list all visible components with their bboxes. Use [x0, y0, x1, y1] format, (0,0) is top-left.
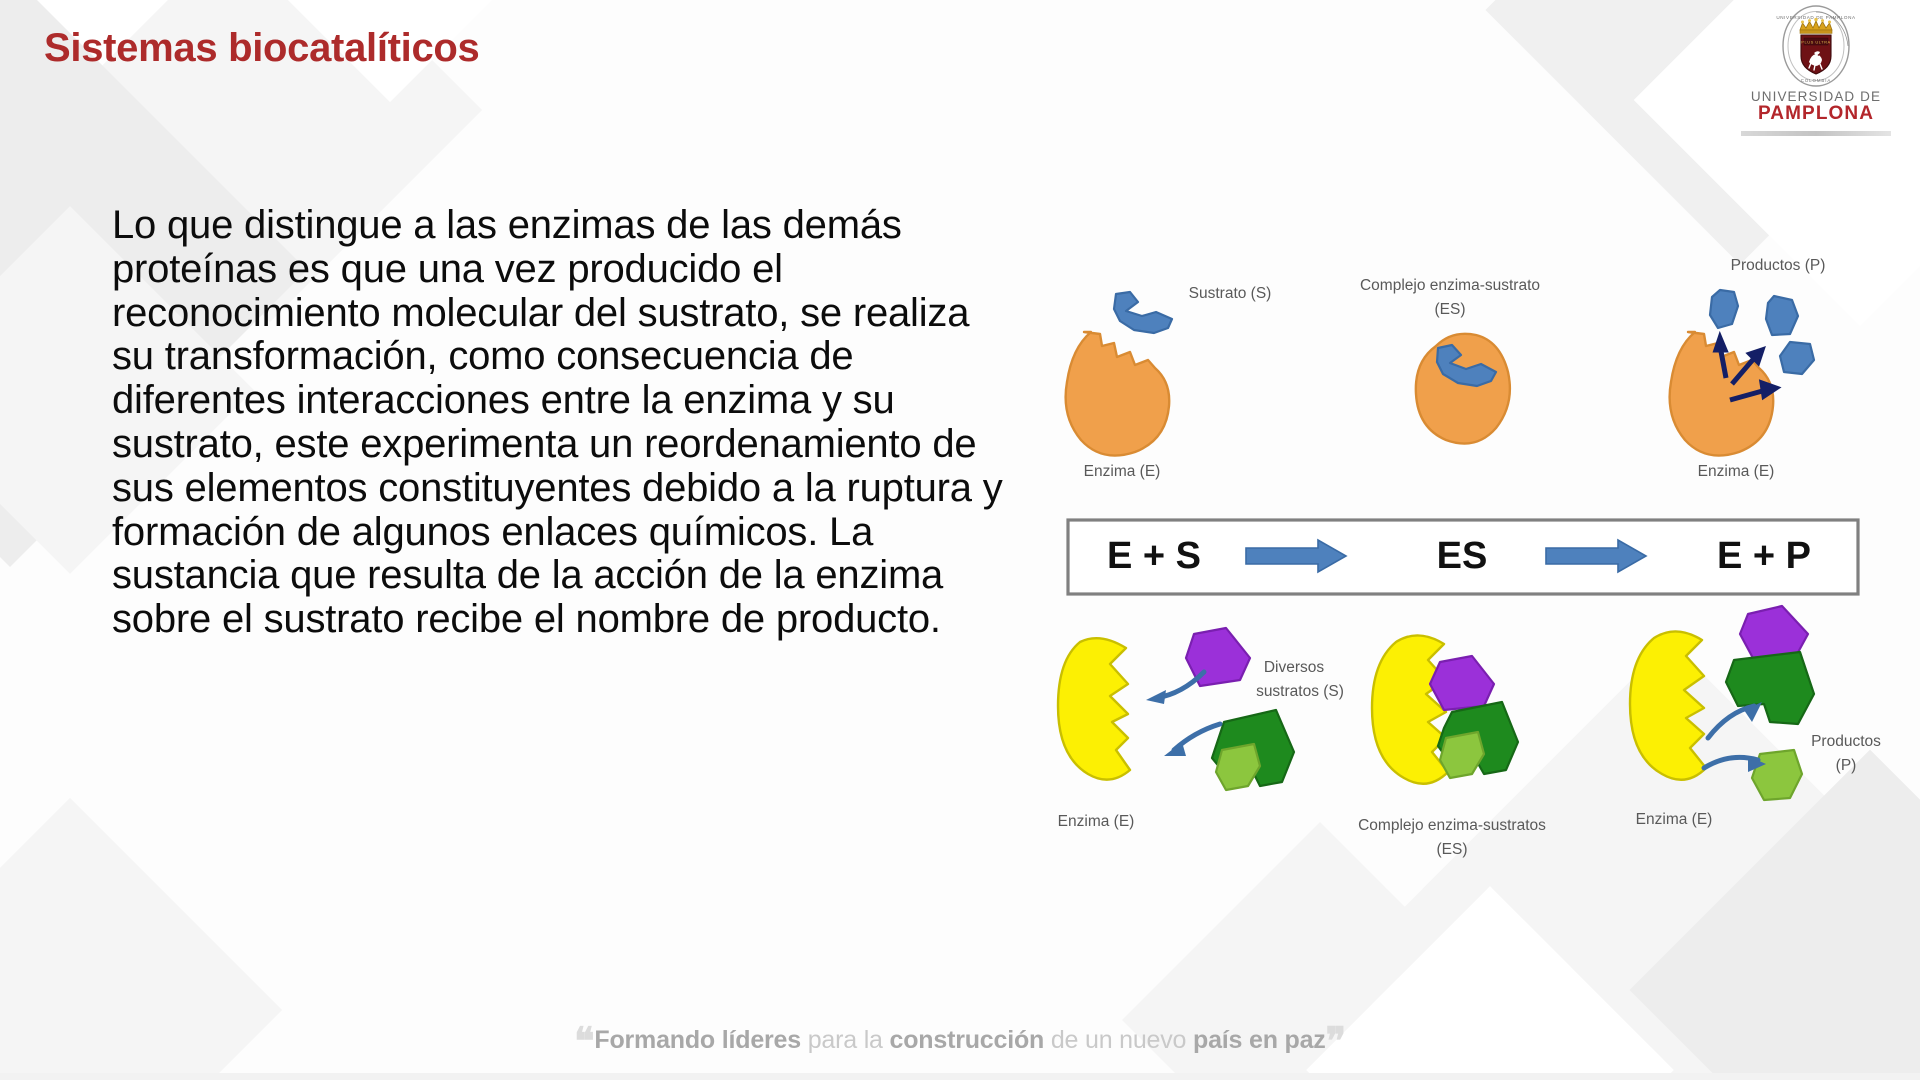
- bottom-panel-complex: Complejo enzima-sustratos (ES): [1358, 635, 1546, 858]
- crest-icon: UNIVERSIDAD DE PAMPLONA COLOMBIA PLUS UL…: [1730, 4, 1902, 88]
- logo-line-universidad: UNIVERSIDAD DE: [1730, 89, 1902, 104]
- top-panel-separate: Enzima (E) Sustrato (S): [1066, 285, 1272, 480]
- footer-seg-5: país en paz: [1193, 1026, 1326, 1054]
- svg-text:(P): (P): [1836, 757, 1857, 774]
- enzyme-mechanism-diagram: Enzima (E) Sustrato (S) Complejo enzima-…: [1018, 238, 1908, 878]
- close-quote-icon: ❞: [1326, 1021, 1346, 1063]
- svg-text:Sustrato (S): Sustrato (S): [1189, 285, 1272, 302]
- svg-text:E + S: E + S: [1107, 535, 1201, 577]
- top-panel-products: Enzima (E) Productos (P): [1670, 257, 1826, 480]
- svg-text:Productos (P): Productos (P): [1731, 257, 1826, 274]
- svg-text:Complejo enzima-sustrato: Complejo enzima-sustrato: [1360, 277, 1540, 294]
- logo-underline: [1741, 131, 1891, 136]
- footer-divider: [0, 1073, 1920, 1080]
- svg-text:Enzima (E): Enzima (E): [1058, 813, 1135, 830]
- footer-seg-2: para la: [801, 1026, 890, 1054]
- page-title: Sistemas biocatalíticos: [44, 26, 480, 71]
- svg-text:E + P: E + P: [1717, 535, 1811, 577]
- footer-seg-3: construcción: [890, 1026, 1045, 1054]
- svg-text:(ES): (ES): [1437, 841, 1468, 858]
- bottom-panel-products: Enzima (E) Productos (P): [1630, 606, 1881, 828]
- svg-text:sustratos (S): sustratos (S): [1256, 683, 1344, 700]
- svg-text:Complejo enzima-sustratos: Complejo enzima-sustratos: [1358, 817, 1546, 834]
- body-paragraph: Lo que distingue a las enzimas de las de…: [112, 204, 1012, 642]
- footer-seg-1: Formando líderes: [594, 1026, 801, 1054]
- svg-text:COLOMBIA: COLOMBIA: [1801, 78, 1831, 83]
- bottom-panel-separate: Enzima (E) Diversos sustratos (S): [1058, 628, 1344, 830]
- svg-text:(ES): (ES): [1435, 301, 1466, 318]
- logo-line-pamplona: PAMPLONA: [1730, 103, 1902, 125]
- svg-text:Productos: Productos: [1811, 733, 1881, 750]
- svg-text:Diversos: Diversos: [1264, 659, 1325, 676]
- svg-text:Enzima (E): Enzima (E): [1084, 463, 1161, 480]
- svg-text:Enzima (E): Enzima (E): [1698, 463, 1775, 480]
- footer-slogan: ❝Formando líderes para la construcción d…: [0, 1019, 1920, 1064]
- svg-text:ES: ES: [1437, 535, 1488, 577]
- open-quote-icon: ❝: [574, 1021, 594, 1063]
- footer-seg-4: de un nuevo: [1044, 1026, 1193, 1054]
- svg-text:Enzima (E): Enzima (E): [1636, 811, 1713, 828]
- reaction-equation: E + S ES E + P: [1068, 520, 1858, 594]
- top-panel-complex: Complejo enzima-sustrato (ES): [1360, 277, 1540, 444]
- university-logo: UNIVERSIDAD DE PAMPLONA COLOMBIA PLUS UL…: [1730, 4, 1902, 136]
- svg-text:PLUS ULTRA: PLUS ULTRA: [1801, 40, 1830, 45]
